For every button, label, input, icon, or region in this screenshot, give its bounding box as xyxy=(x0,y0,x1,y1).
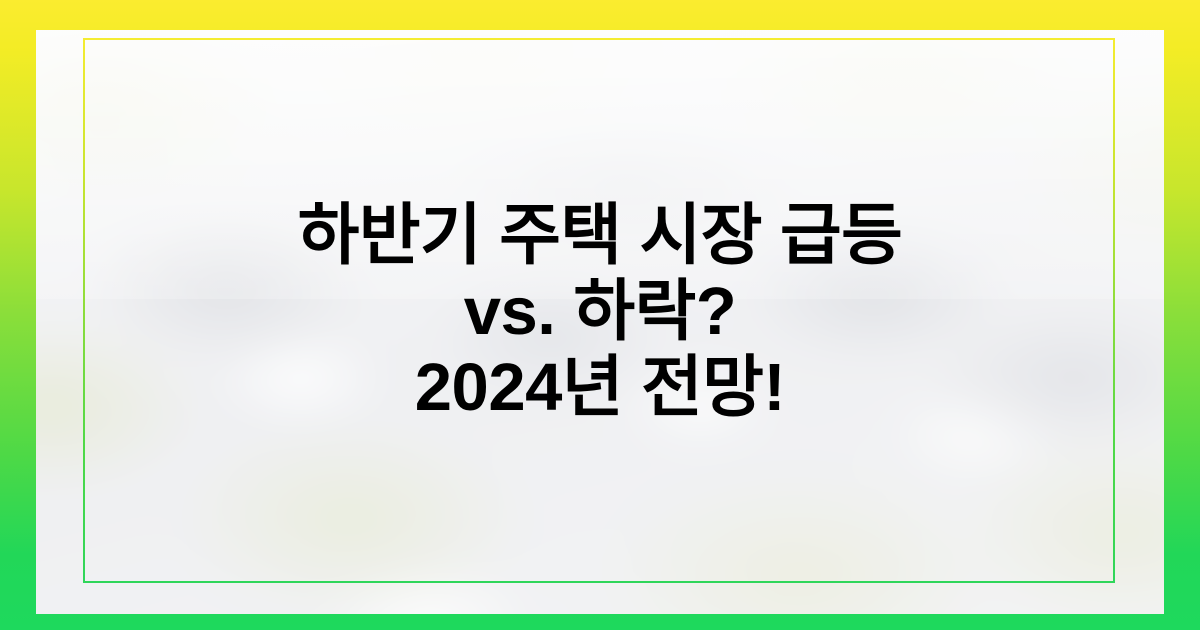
headline: 하반기 주택 시장 급등 vs. 하락? 2024년 전망! xyxy=(0,198,1200,426)
thumbnail-card: 하반기 주택 시장 급등 vs. 하락? 2024년 전망! xyxy=(0,0,1200,630)
headline-line-1: 하반기 주택 시장 급등 xyxy=(0,198,1200,274)
headline-line-2: vs. 하락? xyxy=(0,274,1200,350)
headline-line-3: 2024년 전망! xyxy=(0,350,1200,426)
